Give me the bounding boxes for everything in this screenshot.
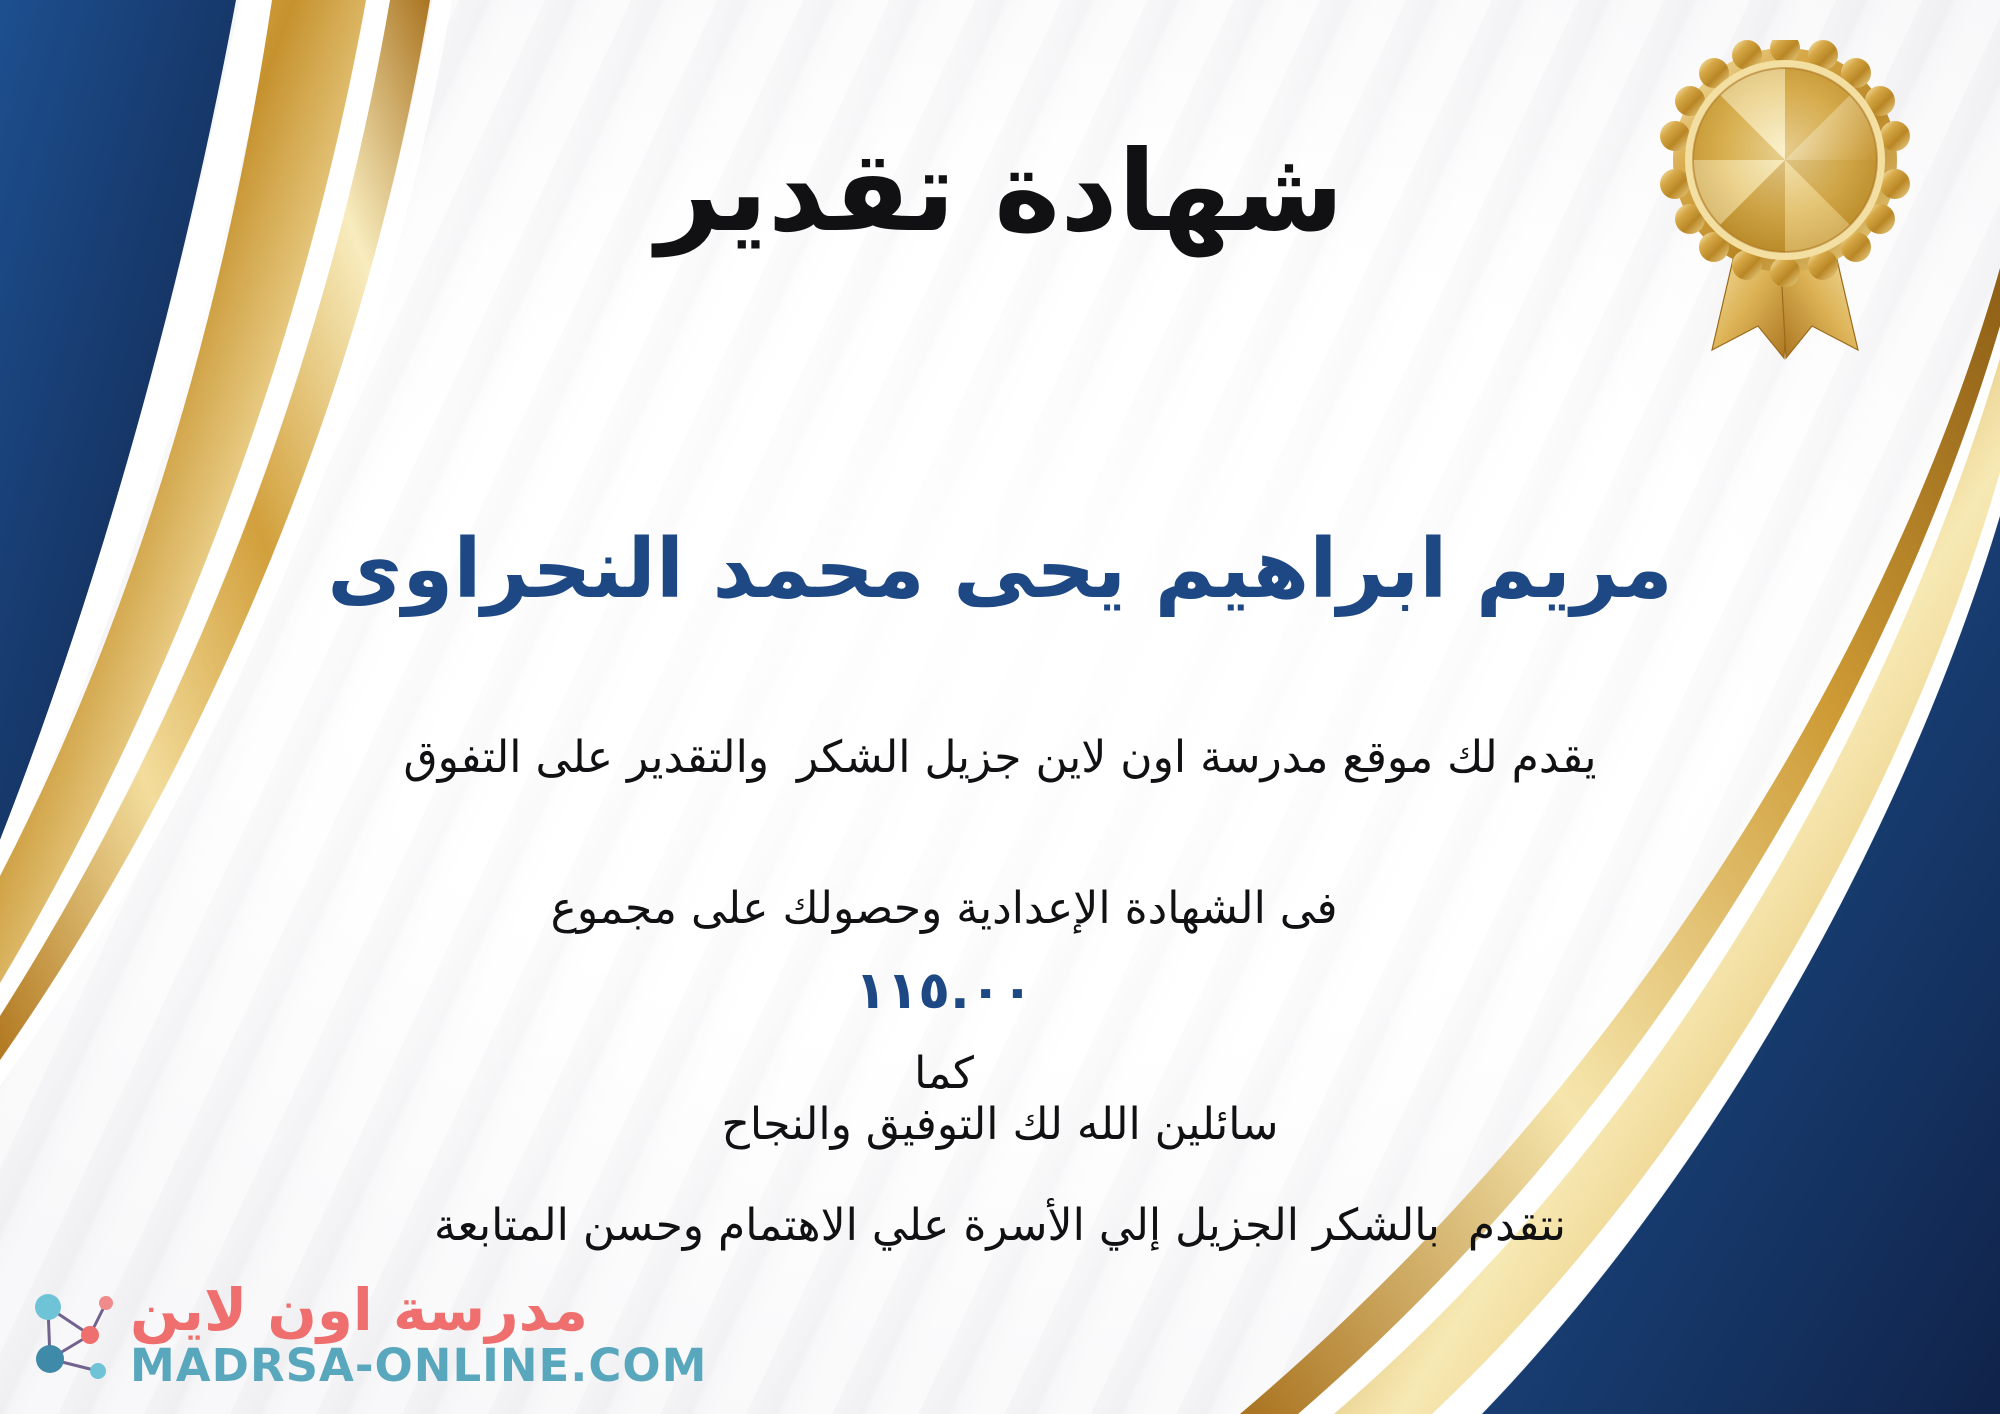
recipient-name: مريم ابراهيم يحى محمد النحراوى <box>120 520 1880 620</box>
brand-url: MADRSA-ONLINE.COM <box>130 1343 707 1388</box>
certificate-body: يقدم لك موقع مدرسة اون لاين جزيل الشكر و… <box>60 720 1940 1263</box>
body-line-3: نتقدم بالشكر الجزيل إلي الأسرة علي الاهت… <box>60 1188 1940 1264</box>
body-line-1: يقدم لك موقع مدرسة اون لاين جزيل الشكر و… <box>60 720 1940 796</box>
network-nodes-icon <box>28 1283 120 1387</box>
brand-logo[interactable]: مدرسة اون لاين MADRSA-ONLINE.COM <box>28 1281 707 1388</box>
brand-text: مدرسة اون لاين MADRSA-ONLINE.COM <box>130 1281 707 1388</box>
gold-award-rosette-icon <box>1660 40 1910 370</box>
brand-name-arabic: مدرسة اون لاين <box>130 1281 588 1339</box>
certificate-canvas: شهادة تقدير مريم ابراهيم يحى محمد النحرا… <box>0 0 2000 1414</box>
closing-line: سائلين الله لك التوفيق والنجاح <box>60 1090 1940 1160</box>
grade-value: ١١٥.٠٠ <box>833 961 1055 1021</box>
body-line-2-prefix: فى الشهادة الإعدادية وحصولك على مجموع <box>551 883 1338 934</box>
